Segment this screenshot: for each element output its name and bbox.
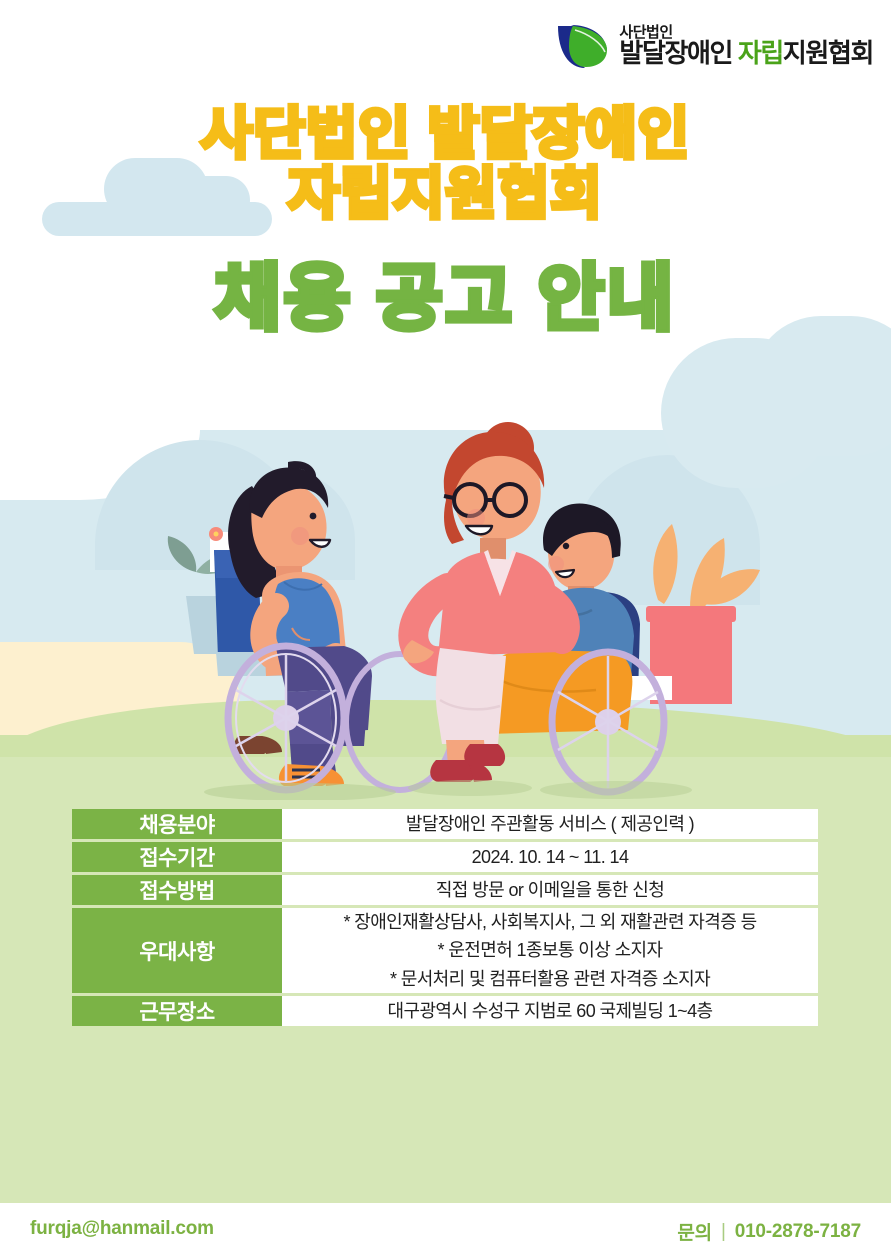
value-line: 대구광역시 수성구 지범로 60 국제빌딩 1~4층 xyxy=(282,997,818,1025)
table-row: 근무장소 대구광역시 수성구 지범로 60 국제빌딩 1~4층 xyxy=(72,996,818,1026)
organization-title-line-2: 자립지원협회 xyxy=(0,164,891,224)
table-row: 접수방법 직접 방문 or 이메일을 통한 신청 xyxy=(72,875,818,905)
recruitment-info-table: 채용분야 발달장애인 주관활동 서비스 ( 제공인력 ) 접수기간 2024. … xyxy=(72,806,818,1029)
logo-name-accent: 자립 xyxy=(738,38,783,68)
row-value-method: 직접 방문 or 이메일을 통한 신청 xyxy=(282,875,818,905)
row-label-method: 접수방법 xyxy=(72,875,282,905)
logo-name-part-2: 지원협회 xyxy=(783,38,873,68)
organization-title: 사단법인 발달장애인 자립지원협회 xyxy=(0,104,891,225)
table-body: 채용분야 발달장애인 주관활동 서비스 ( 제공인력 ) 접수기간 2024. … xyxy=(72,809,818,1026)
organization-title-line-1: 사단법인 발달장애인 xyxy=(0,104,891,164)
row-value-period: 2024. 10. 14 ~ 11. 14 xyxy=(282,842,818,872)
row-label-location: 근무장소 xyxy=(72,996,282,1026)
organization-logo: 사단법인 발달장애인 자립지원협회 xyxy=(555,20,873,72)
footer-contact: 문의 | 010-2878-7187 xyxy=(677,1218,861,1245)
people-illustration xyxy=(0,400,891,800)
value-line: 직접 방문 or 이메일을 통한 신청 xyxy=(282,876,818,904)
table-row: 우대사항 * 장애인재활상담사, 사회복지사, 그 외 재활관련 자격증 등 *… xyxy=(72,908,818,993)
logo-text: 사단법인 발달장애인 자립지원협회 xyxy=(619,25,873,67)
value-line: 2024. 10. 14 ~ 11. 14 xyxy=(282,843,818,871)
value-line: * 장애인재활상담사, 사회복지사, 그 외 재활관련 자격증 등 xyxy=(282,908,818,936)
value-line: * 운전면허 1종보통 이상 소지자 xyxy=(282,936,818,964)
contact-separator: | xyxy=(721,1221,726,1243)
value-line: * 문서처리 및 컴퓨터활용 관련 자격증 소지자 xyxy=(282,965,818,993)
logo-name-part-1: 발달장애인 xyxy=(619,38,737,68)
row-value-preferred: * 장애인재활상담사, 사회복지사, 그 외 재활관련 자격증 등 * 운전면허… xyxy=(282,908,818,993)
table-row: 채용분야 발달장애인 주관활동 서비스 ( 제공인력 ) xyxy=(72,809,818,839)
row-label-field: 채용분야 xyxy=(72,809,282,839)
logo-line-2: 발달장애인 자립지원협회 xyxy=(619,40,873,67)
table-row: 접수기간 2024. 10. 14 ~ 11. 14 xyxy=(72,842,818,872)
row-value-field: 발달장애인 주관활동 서비스 ( 제공인력 ) xyxy=(282,809,818,839)
contact-phone[interactable]: 010-2878-7187 xyxy=(735,1221,861,1243)
leaf-logo-icon xyxy=(555,20,611,72)
woman-caregiver-with-glasses xyxy=(403,422,566,796)
row-value-location: 대구광역시 수성구 지범로 60 국제빌딩 1~4층 xyxy=(282,996,818,1026)
value-line: 발달장애인 주관활동 서비스 ( 제공인력 ) xyxy=(282,810,818,838)
recruitment-poster: 사단법인 발달장애인 자립지원협회 사단법인 발달장애인 자립지원협회 채용 공… xyxy=(0,0,891,1260)
row-label-period: 접수기간 xyxy=(72,842,282,872)
footer-email[interactable]: furqja@hanmail.com xyxy=(30,1218,214,1240)
contact-label: 문의 xyxy=(677,1218,712,1245)
row-label-preferred: 우대사항 xyxy=(72,908,282,993)
announcement-title: 채용 공고 안내 xyxy=(0,262,891,338)
